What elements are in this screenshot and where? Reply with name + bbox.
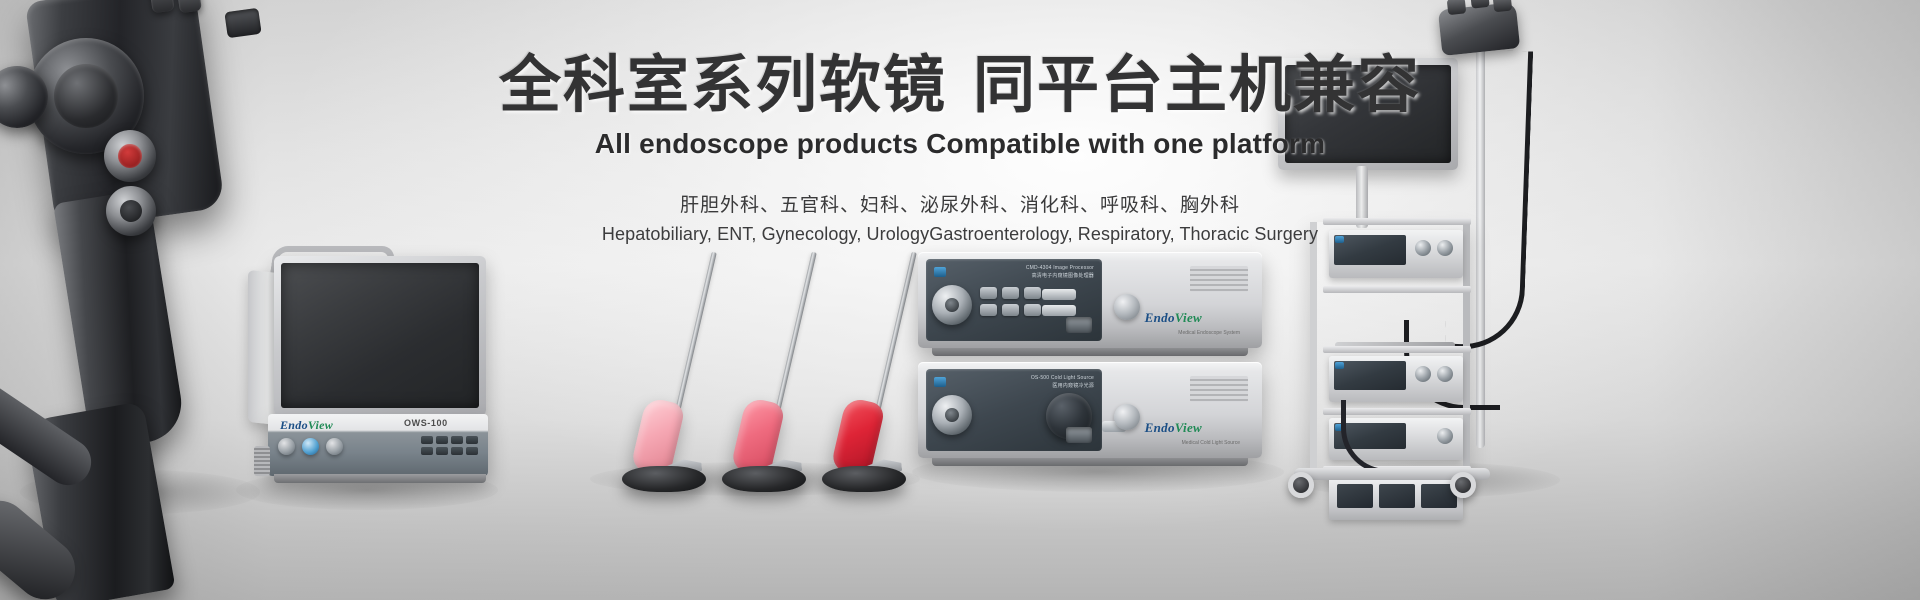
monitor-model-label: OWS-100 bbox=[404, 418, 448, 428]
rigid-instrument-red bbox=[800, 248, 930, 498]
image-processor-unit: CMD-4304 Image Processor 高清电子内窥镜图像处理器 En… bbox=[918, 252, 1262, 348]
processor-button-grid bbox=[980, 287, 1041, 316]
processor-sub-label: Medical Endoscope System bbox=[1178, 330, 1240, 336]
monitor-key bbox=[421, 447, 433, 455]
cart-module bbox=[1337, 484, 1373, 508]
cart-unit-knob bbox=[1437, 366, 1453, 382]
instrument-stand-base bbox=[622, 466, 706, 492]
processor-pill bbox=[1042, 289, 1076, 300]
processor-button bbox=[1002, 304, 1019, 316]
light-source-title-cn: 医用内窥镜冷光源 bbox=[1031, 383, 1094, 391]
monitor-key bbox=[436, 447, 448, 455]
cart-unit-panel bbox=[1334, 361, 1406, 390]
processor-power-button bbox=[1114, 294, 1140, 320]
cart-wheel-right bbox=[1450, 472, 1476, 498]
cold-light-source-unit: OS-500 Cold Light Source 医用内窥镜冷光源 EndoVi… bbox=[918, 362, 1262, 458]
cart-unit-middle bbox=[1329, 356, 1463, 402]
monitor-screen bbox=[281, 263, 479, 408]
departments-english: Hepatobiliary, ENT, Gynecology, UrologyG… bbox=[0, 224, 1920, 245]
processor-pill bbox=[1042, 305, 1076, 316]
cart-bottom-modules bbox=[1329, 474, 1463, 520]
cart-frame bbox=[1310, 222, 1470, 470]
processor-feet bbox=[932, 348, 1248, 356]
instrument-stand-base bbox=[722, 466, 806, 492]
light-source-power-button bbox=[1114, 404, 1140, 430]
light-source-feet bbox=[932, 458, 1248, 466]
processor-title-en: CMD-4304 Image Processor bbox=[1026, 265, 1094, 273]
processor-main-knob bbox=[932, 285, 972, 325]
processor-button bbox=[1024, 287, 1041, 299]
page-title: 全科室系列软镜同平台主机兼容 bbox=[0, 52, 1920, 120]
light-source-brand-label: EndoView bbox=[1145, 420, 1202, 436]
cart-scope-knob-1 bbox=[1447, 0, 1467, 15]
processor-button bbox=[1024, 304, 1041, 316]
cart-scope-knob-3 bbox=[1493, 0, 1513, 12]
light-source-port-knob bbox=[932, 395, 972, 435]
cart-unit-indicator bbox=[1335, 362, 1344, 369]
processor-pill-buttons bbox=[1042, 289, 1076, 316]
light-source-vent-grille bbox=[1190, 376, 1248, 402]
processor-button bbox=[1002, 287, 1019, 299]
headline-part-1: 全科室系列软镜 bbox=[499, 51, 947, 120]
cart-unit-knob-2 bbox=[1415, 366, 1431, 382]
processor-vent-grille bbox=[1190, 266, 1248, 292]
light-source-title-en: OS-500 Cold Light Source bbox=[1031, 375, 1094, 383]
cart-power-cord bbox=[1341, 400, 1405, 474]
monitor-key bbox=[451, 436, 463, 444]
cart-scope-knob-2 bbox=[1470, 0, 1490, 9]
processor-brand-label: EndoView bbox=[1145, 310, 1202, 326]
light-source-power-indicator bbox=[934, 377, 946, 387]
processor-button bbox=[980, 304, 997, 316]
cart-shelf bbox=[1323, 346, 1471, 353]
monitor-knob-3 bbox=[326, 438, 343, 455]
promo-banner: EndoView OWS-100 bbox=[0, 0, 1920, 600]
monitor-key bbox=[421, 436, 433, 444]
headline-part-2: 同平台主机兼容 bbox=[973, 51, 1421, 120]
monitor-key bbox=[436, 436, 448, 444]
light-source-front-face: OS-500 Cold Light Source 医用内窥镜冷光源 bbox=[926, 369, 1102, 451]
departments-chinese: 肝胆外科、五官科、妇科、泌尿外科、消化科、呼吸科、胸外科 bbox=[0, 190, 1920, 217]
scope-biopsy-port bbox=[224, 8, 261, 38]
monitor-keypad bbox=[421, 436, 478, 455]
cart-hanging-endoscope-head bbox=[1438, 2, 1520, 56]
instrument-shaft bbox=[874, 252, 917, 417]
cart-shelf bbox=[1323, 286, 1471, 293]
banner-text-block: 全科室系列软镜同平台主机兼容 All endoscope products Co… bbox=[0, 52, 1920, 245]
processor-front-face: CMD-4304 Image Processor 高清电子内窥镜图像处理器 bbox=[926, 259, 1102, 341]
monitor-key bbox=[466, 447, 478, 455]
instrument-stand-base bbox=[822, 466, 906, 492]
light-source-sub-label: Medical Cold Light Source bbox=[1182, 440, 1240, 446]
cart-module bbox=[1379, 484, 1415, 508]
cart-wheel-left bbox=[1288, 472, 1314, 498]
processor-power-indicator bbox=[934, 267, 946, 277]
cart-unit-knob bbox=[1437, 428, 1453, 444]
processor-title-cn: 高清电子内窥镜图像处理器 bbox=[1026, 273, 1094, 281]
monitor-key bbox=[451, 447, 463, 455]
light-source-port bbox=[1066, 427, 1092, 443]
processor-button bbox=[980, 287, 997, 299]
processor-title: CMD-4304 Image Processor 高清电子内窥镜图像处理器 bbox=[1026, 265, 1094, 280]
light-source-title: OS-500 Cold Light Source 医用内窥镜冷光源 bbox=[1031, 375, 1094, 390]
monitor-key bbox=[466, 436, 478, 444]
processor-stack: CMD-4304 Image Processor 高清电子内窥镜图像处理器 En… bbox=[918, 252, 1274, 470]
page-subtitle: All endoscope products Compatible with o… bbox=[0, 128, 1920, 160]
processor-usb-port bbox=[1066, 317, 1092, 333]
